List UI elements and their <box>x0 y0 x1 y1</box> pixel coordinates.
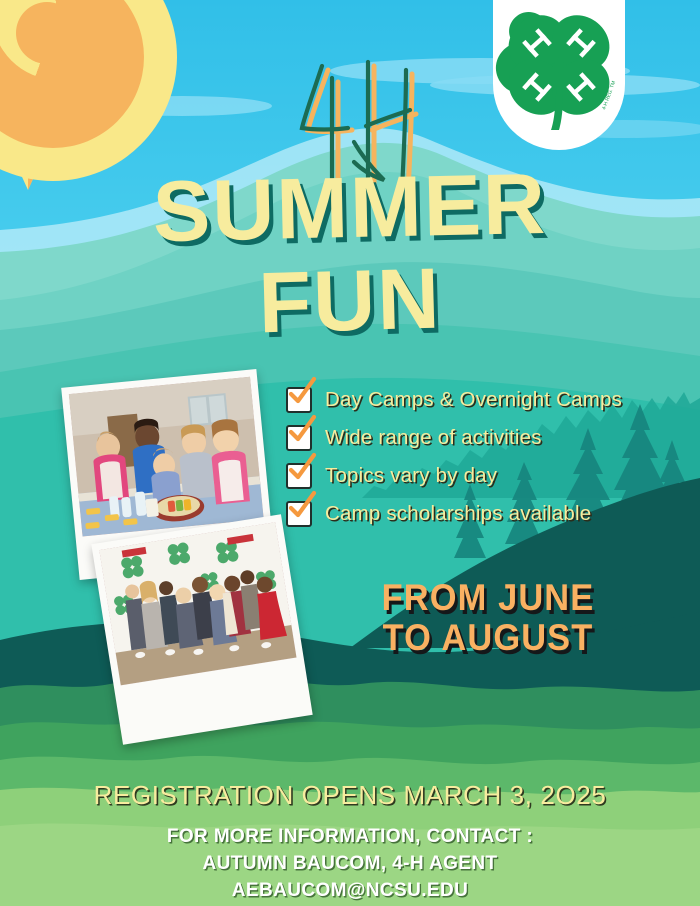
checkbox[interactable] <box>286 425 312 451</box>
4-h-clover-logo: 4-H REG. TM <box>493 0 625 150</box>
checklist-item[interactable]: Camp scholarships available <box>286 500 686 527</box>
4-h-clover-badge: 4-H REG. TM <box>493 0 625 150</box>
checkbox[interactable] <box>286 387 312 413</box>
page-title-summer: SUMMER <box>0 161 700 257</box>
checkmark-icon <box>287 452 317 482</box>
contact-block: FOR MORE INFORMATION, CONTACT : AUTUMN B… <box>0 824 700 905</box>
date-range-line1: FROM JUNE <box>330 578 646 618</box>
checklist-item[interactable]: Day Camps & Overnight Camps <box>286 386 686 413</box>
contact-line-2: AUTUMN BAUCOM, 4-H AGENT <box>0 851 700 878</box>
sun-spiral-core <box>16 2 78 64</box>
checkmark-icon <box>287 414 317 444</box>
registration-text: REGISTRATION OPENS MARCH 3, 2O25 <box>0 780 700 811</box>
checklist-item-label: Topics vary by day <box>325 464 497 488</box>
checklist-item-label: Wide range of activities <box>325 426 542 450</box>
checkmark-icon <box>287 376 317 406</box>
checkbox[interactable] <box>286 501 312 527</box>
flyer-poster: 4-H REG. TM SUMMER FUN <box>0 0 700 906</box>
checklist-item[interactable]: Wide range of activities <box>286 424 686 451</box>
checklist-item-label: Camp scholarships available <box>325 502 591 526</box>
date-range: FROM JUNE TO AUGUST <box>330 578 646 658</box>
date-range-line2: TO AUGUST <box>330 618 646 658</box>
photo-group-formal-image <box>99 522 296 685</box>
photo-cooking-camp-image <box>69 377 264 537</box>
page-title-fun: FUN <box>0 243 700 360</box>
checklist-item-label: Day Camps & Overnight Camps <box>325 388 622 412</box>
contact-email[interactable]: AEBAUCOM@NCSU.EDU <box>0 878 700 905</box>
checklist: Day Camps & Overnight Camps Wide range o… <box>286 386 686 538</box>
contact-line-1: FOR MORE INFORMATION, CONTACT : <box>0 824 700 851</box>
checkbox[interactable] <box>286 463 312 489</box>
checklist-item[interactable]: Topics vary by day <box>286 462 686 489</box>
photo-group-formal <box>91 514 312 745</box>
checkmark-icon <box>287 490 317 520</box>
